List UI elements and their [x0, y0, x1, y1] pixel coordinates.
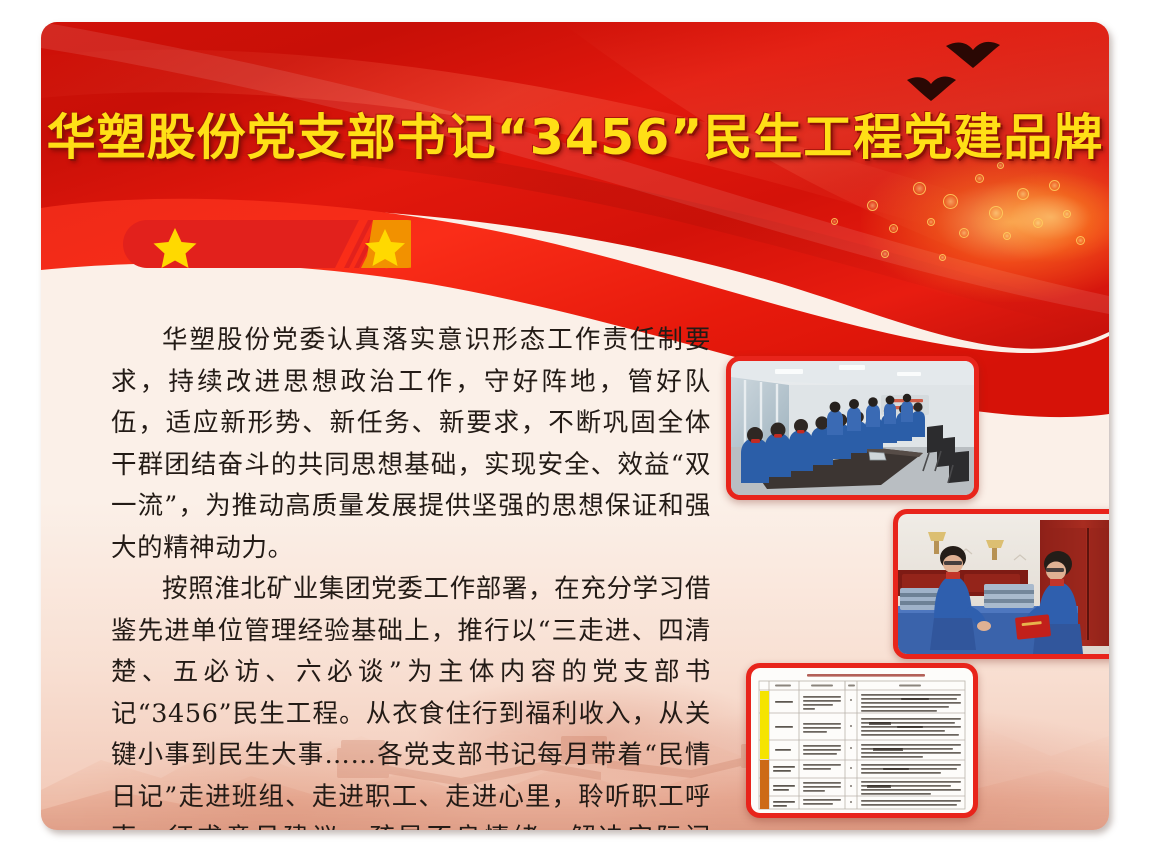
dormitory-visit-photo[interactable]: [893, 509, 1109, 659]
work-plan-table-photo-image: [751, 668, 973, 813]
work-plan-table-photo[interactable]: [746, 663, 978, 818]
star-ribbon-decoration: [121, 218, 411, 270]
meeting-room-photo-image: [731, 361, 974, 495]
article-paragraph-1: 华塑股份党委认真落实意识形态工作责任制要求，持续改进思想政治工作，守好阵地，管好…: [111, 320, 711, 569]
poster-page: 华塑股份党支部书记“3456”民生工程党建品牌 华塑股份党委认真落实意识形态工作…: [41, 22, 1109, 830]
article-body: 华塑股份党委认真落实意识形态工作责任制要求，持续改进思想政治工作，守好阵地，管好…: [111, 320, 711, 830]
poster-title: 华塑股份党支部书记“3456”民生工程党建品牌: [41, 98, 1109, 169]
article-paragraph-2: 按照淮北矿业集团党委工作部署，在充分学习借鉴先进单位管理经验基础上，推行以“三走…: [111, 569, 711, 830]
meeting-room-photo[interactable]: [726, 356, 979, 500]
red-notebook: [1015, 614, 1051, 639]
dormitory-visit-photo-image: [898, 514, 1109, 654]
